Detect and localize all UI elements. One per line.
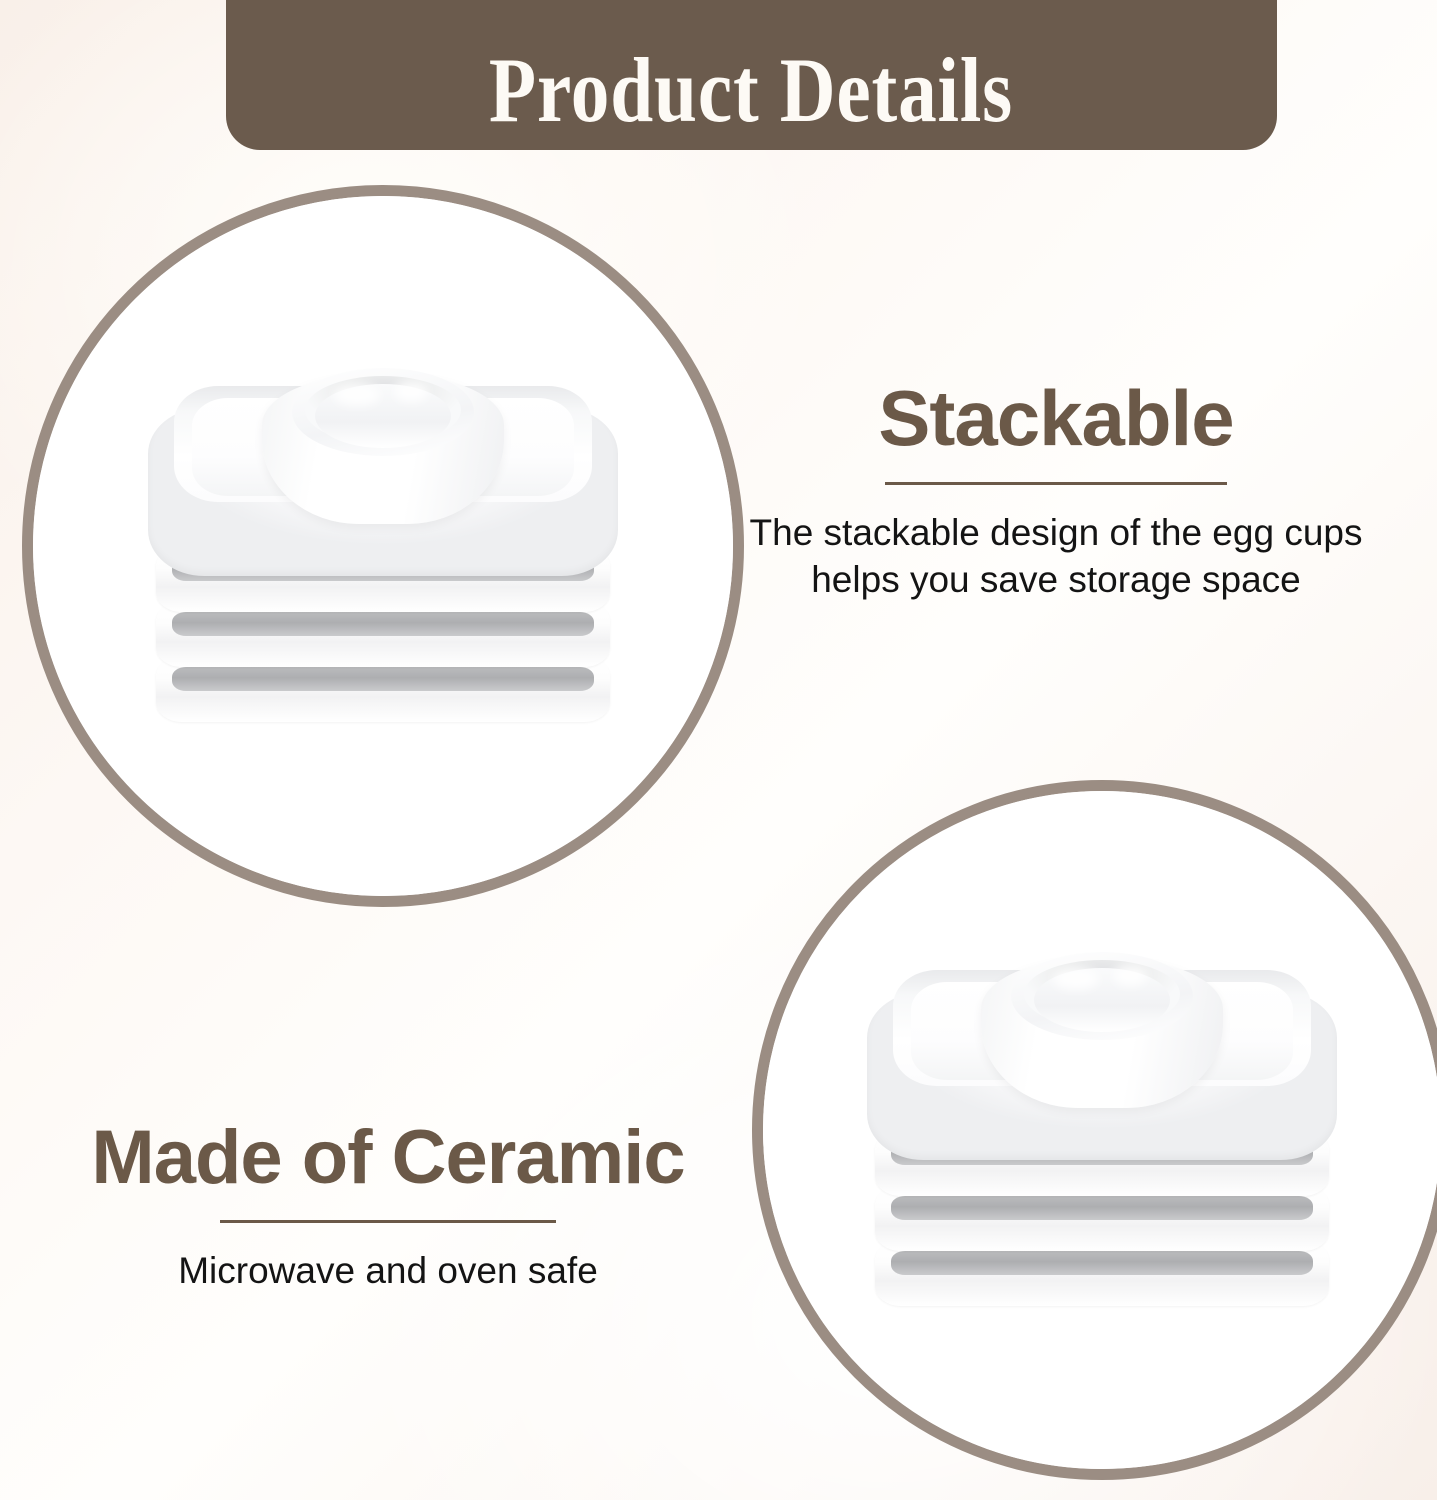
feature-description-stackable: The stackable design of the egg cups hel… (700, 509, 1412, 604)
product-photo-circle-ceramic (752, 780, 1437, 1480)
egg-cup-hollow (305, 376, 461, 444)
feature-block-stackable: Stackable The stackable design of the eg… (700, 378, 1412, 604)
page-header-banner: Product Details (226, 0, 1277, 150)
feature-block-ceramic: Made of Ceramic Microwave and oven safe (18, 1118, 758, 1294)
egg-cup-stack-illustration (867, 940, 1337, 1320)
feature-divider-stackable (885, 482, 1227, 485)
product-details-page: Product Details (0, 0, 1437, 1500)
feature-description-ceramic: Microwave and oven safe (18, 1247, 758, 1294)
egg-cup-hollow (1024, 960, 1180, 1028)
egg-cup-stack-illustration (148, 356, 618, 736)
top-egg-cup (867, 952, 1337, 1160)
top-egg-cup (148, 368, 618, 576)
product-photo-stackable (33, 196, 733, 896)
feature-divider-ceramic (220, 1220, 556, 1223)
page-title: Product Details (489, 44, 1013, 136)
feature-title-ceramic: Made of Ceramic (18, 1118, 758, 1198)
product-photo-circle-stackable (22, 185, 744, 907)
feature-title-stackable: Stackable (700, 378, 1412, 460)
product-photo-ceramic (763, 791, 1437, 1469)
